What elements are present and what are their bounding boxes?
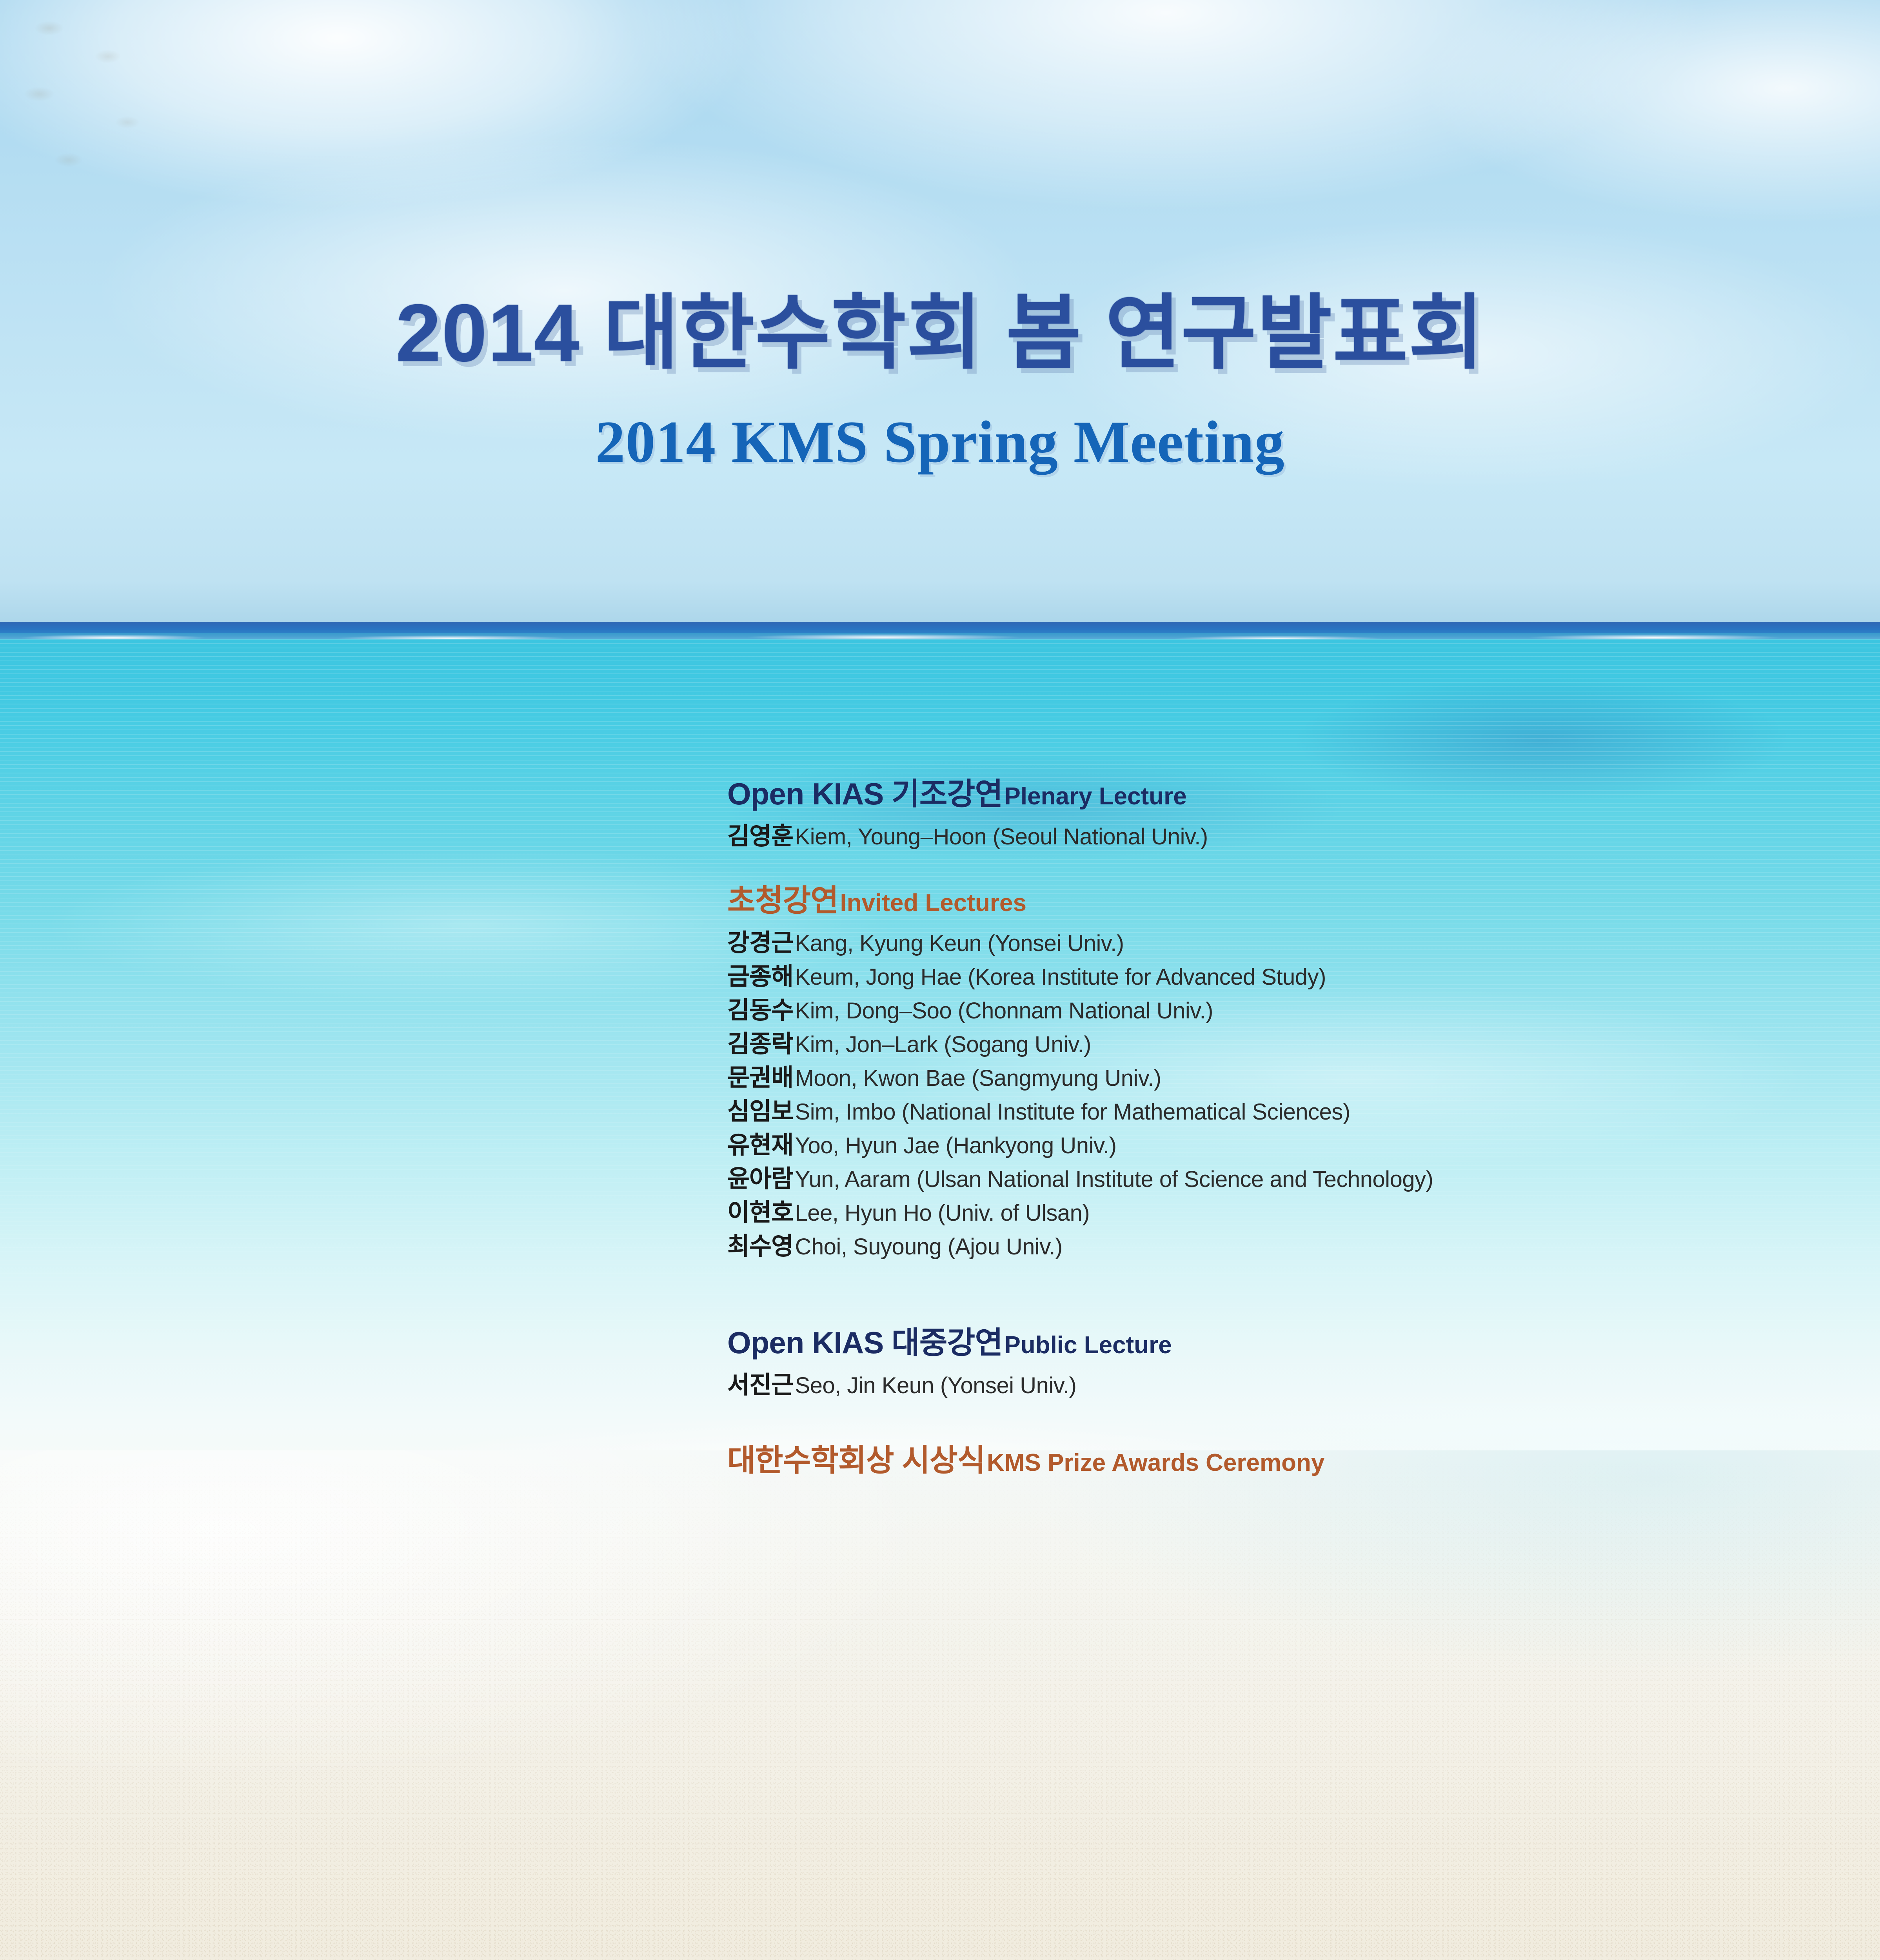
speaker-row: 심임보 Sim, Imbo (National Institute for Ma…: [727, 1100, 1829, 1133]
speaker-name-en: Sim, Imbo (National Institute for Mathem…: [795, 1099, 1350, 1125]
speaker-name-ko: 이현호: [727, 1199, 793, 1226]
spacer: [727, 1359, 1829, 1373]
section-heading-prize-en: KMS Prize Awards Ceremony: [987, 1449, 1324, 1476]
speaker-name-en: Yun, Aaram (Ulsan National Institute of …: [795, 1167, 1433, 1192]
spacer: [727, 1397, 1829, 1445]
speaker-row: 윤아람 Yun, Aaram (Ulsan National Institute…: [727, 1167, 1829, 1201]
section-heading-prize-ko: 대한수학회상 시상식: [727, 1443, 985, 1477]
spacer: [727, 1268, 1829, 1327]
speaker-name-en: Seo, Jin Keun (Yonsei Univ.): [795, 1373, 1077, 1398]
speaker-name-en: Choi, Suyoung (Ajou Univ.): [795, 1234, 1063, 1259]
speaker-name-ko: 김영훈: [727, 823, 793, 850]
speaker-row: 서진근 Seo, Jin Keun (Yonsei Univ.): [727, 1373, 1829, 1397]
section-heading-plenary-en: Plenary Lecture: [1004, 783, 1187, 810]
program-listing: Open KIAS 기조강연 Plenary Lecture 김영훈 Kiem,…: [727, 778, 1829, 1477]
spacer: [727, 917, 1829, 931]
speaker-name-ko: 최수영: [727, 1233, 793, 1260]
speaker-name-ko: 김종락: [727, 1031, 793, 1058]
section-heading-invited-ko: 초청강연: [727, 883, 838, 918]
speaker-name-ko: 유현재: [727, 1132, 793, 1159]
speaker-name-ko: 금종해: [727, 963, 793, 990]
speaker-row: 김종락 Kim, Jon–Lark (Sogang Univ.): [727, 1032, 1829, 1066]
speaker-name-en: Yoo, Hyun Jae (Hankyong Univ.): [795, 1133, 1117, 1158]
section-heading-plenary-ko: Open KIAS 기조강연: [727, 777, 1003, 811]
section-heading-public: Open KIAS 대중강연 Public Lecture: [727, 1327, 1829, 1359]
speaker-row: 유현재 Yoo, Hyun Jae (Hankyong Univ.): [727, 1133, 1829, 1167]
section-heading-invited: 초청강연 Invited Lectures: [727, 885, 1829, 917]
speaker-name-ko: 윤아람: [727, 1165, 793, 1192]
speaker-name-ko: 심임보: [727, 1098, 793, 1125]
speaker-name-en: Kim, Jon–Lark (Sogang Univ.): [795, 1032, 1091, 1057]
speaker-name-en: Moon, Kwon Bae (Sangmyung Univ.): [795, 1065, 1161, 1091]
conference-poster: 2014 대한수학회 봄 연구발표회 2014 KMS Spring Meeti…: [0, 0, 1880, 1960]
speaker-row: 김영훈 Kiem, Young–Hoon (Seoul National Uni…: [727, 824, 1829, 849]
speaker-row: 금종해 Keum, Jong Hae (Korea Institute for …: [727, 965, 1829, 998]
spacer: [727, 849, 1829, 885]
speaker-row: 문권배 Moon, Kwon Bae (Sangmyung Univ.): [727, 1066, 1829, 1100]
sand-grain-texture: [0, 1450, 1880, 1960]
speaker-name-ko: 문권배: [727, 1064, 793, 1091]
speaker-row: 김동수 Kim, Dong–Soo (Chonnam National Univ…: [727, 998, 1829, 1032]
speaker-name-en: Kang, Kyung Keun (Yonsei Univ.): [795, 931, 1124, 956]
speaker-name-ko: 김동수: [727, 997, 793, 1024]
speaker-row: 강경근 Kang, Kyung Keun (Yonsei Univ.): [727, 931, 1829, 965]
speaker-name-en: Lee, Hyun Ho (Univ. of Ulsan): [795, 1200, 1090, 1226]
speaker-name-ko: 서진근: [727, 1372, 793, 1399]
page-title-english: 2014 KMS Spring Meeting: [0, 408, 1880, 476]
section-heading-prize: 대한수학회상 시상식 KMS Prize Awards Ceremony: [727, 1445, 1829, 1477]
page-title-korean: 2014 대한수학회 봄 연구발표회: [0, 267, 1880, 385]
spacer: [727, 810, 1829, 824]
section-heading-invited-en: Invited Lectures: [840, 889, 1026, 916]
speaker-name-en: Kim, Dong–Soo (Chonnam National Univ.): [795, 998, 1213, 1024]
speaker-name-ko: 강경근: [727, 929, 793, 956]
footprints-in-sand: [0, 0, 490, 470]
speaker-row: 이현호 Lee, Hyun Ho (Univ. of Ulsan): [727, 1201, 1829, 1234]
speaker-name-en: Keum, Jong Hae (Korea Institute for Adva…: [795, 964, 1326, 990]
speaker-name-en: Kiem, Young–Hoon (Seoul National Univ.): [795, 824, 1208, 849]
section-heading-public-ko: Open KIAS 대중강연: [727, 1325, 1003, 1360]
speaker-row: 최수영 Choi, Suyoung (Ajou Univ.): [727, 1234, 1829, 1268]
section-heading-plenary: Open KIAS 기조강연 Plenary Lecture: [727, 778, 1829, 810]
section-heading-public-en: Public Lecture: [1004, 1332, 1172, 1359]
